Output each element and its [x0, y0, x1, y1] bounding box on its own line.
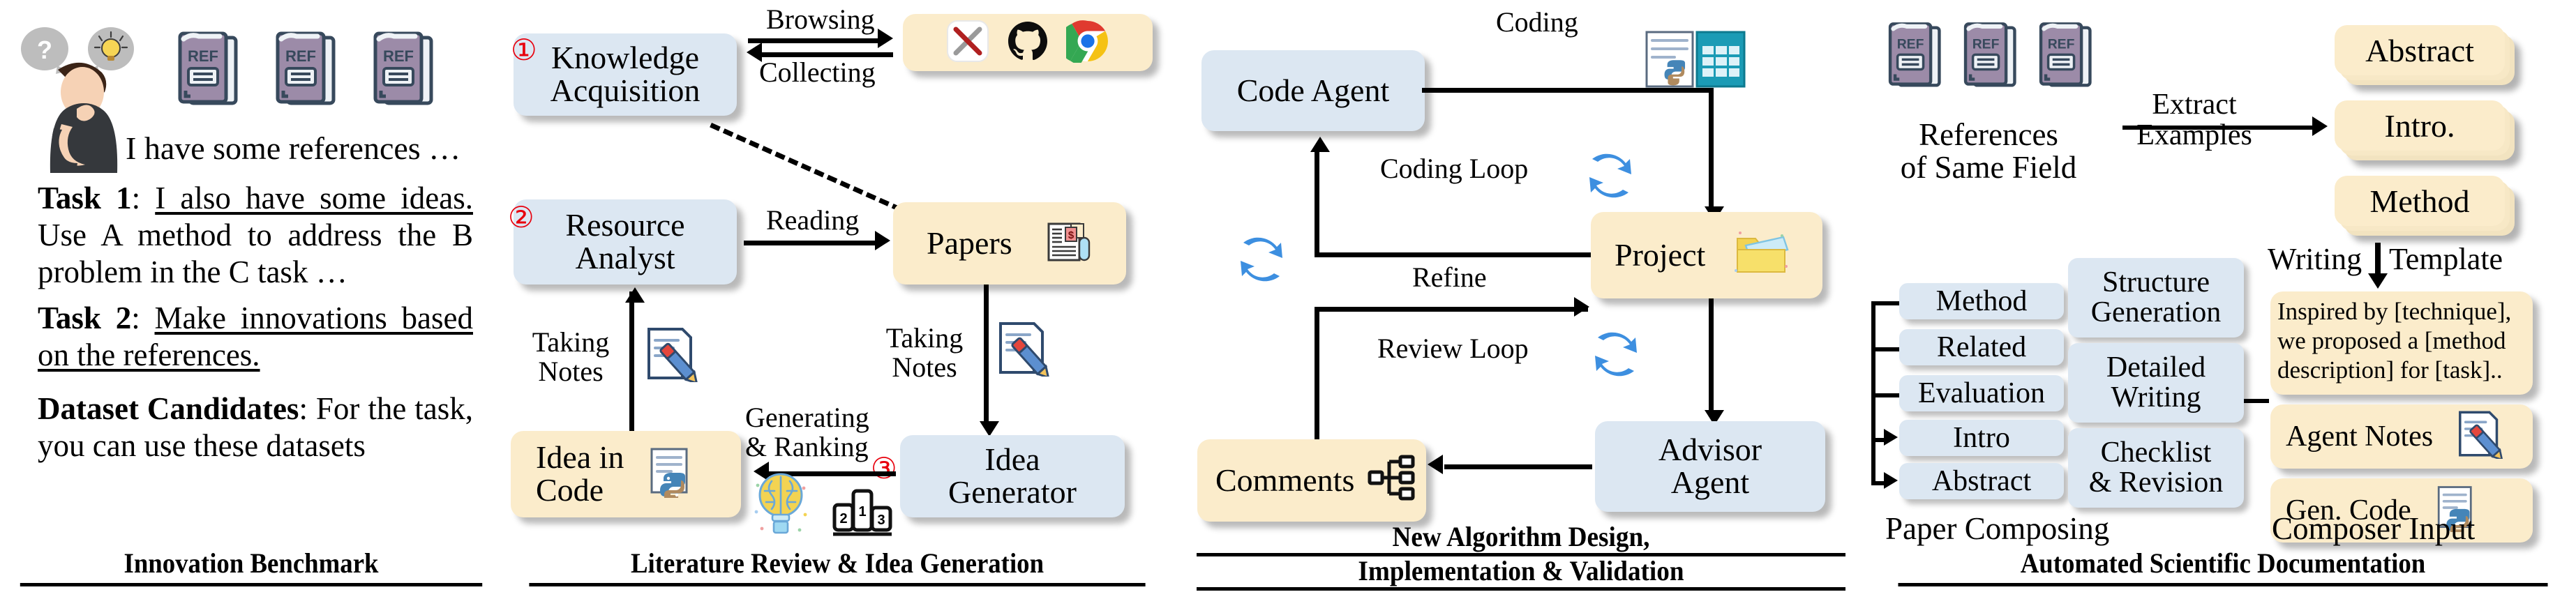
stage-detailed-writing-l1: Detailed [2106, 351, 2206, 384]
loop-icon [1582, 148, 1638, 207]
section-tree-arrow-intro [1884, 429, 1898, 446]
edge-label-coding: Coding [1496, 8, 1578, 36]
section-tree-tick [1871, 393, 1899, 397]
stage-detailed-writing[interactable]: Detailed Writing [2068, 343, 2244, 423]
section-tree-arrow-abstract [1884, 472, 1898, 489]
section-item-intro-label: Intro [1953, 423, 2010, 453]
panel-scientific-documentation: REF REF REF Re [1870, 0, 2576, 599]
svg-text:REF: REF [188, 47, 218, 65]
task-2-sep: : [131, 301, 154, 335]
section-item-abstract[interactable]: Abstract [1899, 463, 2064, 499]
svg-text:REF: REF [1972, 37, 2000, 52]
panel-3-caption-line1: New Algorithm Design, [1197, 522, 1845, 556]
extracted-abstract-card[interactable]: Abstract [2335, 25, 2505, 75]
stage-checklist-revision-l2: & Revision [2089, 467, 2224, 499]
svg-text:?: ? [37, 36, 52, 64]
node-idea-in-code-line1: Idea in [536, 439, 624, 475]
task-1-underlined: I also have some ideas. [155, 181, 473, 215]
node-idea-in-code[interactable]: Idea in Code [511, 431, 741, 517]
node-comments-label: Comments [1215, 464, 1354, 497]
edge-label-generating-ranking-l2: & Ranking [745, 431, 869, 462]
section-item-related-label: Related [1937, 333, 2026, 363]
edge-label-collecting: Collecting [759, 59, 876, 86]
svg-text:2: 2 [839, 511, 847, 526]
section-item-evaluation[interactable]: Evaluation [1899, 375, 2064, 411]
node-advisor-agent[interactable]: Advisor Agent [1595, 421, 1825, 512]
ref-book-icon: REF [174, 29, 244, 112]
node-idea-generator-line2: Generator [948, 474, 1077, 510]
stage-checklist-revision[interactable]: Checklist & Revision [2068, 428, 2244, 508]
edge-label-taking-notes-left-l1: Taking [532, 326, 610, 358]
task-1-block: Task 1: I also have some ideas. Use A me… [38, 180, 473, 291]
dataset-candidates-block: Dataset Candidates: For the task, you ca… [38, 391, 473, 464]
task-2-block: Task 2: Make innovations based on the re… [38, 300, 473, 374]
edge-browsing-line [748, 38, 879, 43]
node-idea-generator[interactable]: Idea Generator [900, 435, 1125, 517]
panel-innovation-benchmark: ? [0, 0, 502, 599]
edge-writing-template-line [2375, 243, 2381, 278]
edge-taking-notes-left-line [629, 291, 634, 434]
edge-refine-hline [1315, 307, 1588, 312]
edge-taking-notes-right-arrow [980, 421, 999, 437]
python-table-icon [1644, 29, 1747, 94]
edge-writing-template-arrow [2368, 273, 2388, 289]
edge-label-coding-loop: Coding Loop [1380, 155, 1528, 183]
edge-label-extract-l1: Extract [2152, 89, 2236, 121]
memo-pencil-icon [642, 325, 699, 386]
svg-text:1: 1 [858, 504, 866, 520]
ref-book-icon: REF [2036, 18, 2097, 95]
section-tree-tick [1871, 301, 1899, 305]
edge-label-taking-notes-left: Taking Notes [522, 328, 620, 386]
extracted-method-card[interactable]: Method [2335, 176, 2505, 226]
edge-label-generating-ranking-l1: Generating [745, 402, 869, 433]
node-resource-analyst-line1: Resource [565, 207, 684, 243]
references-label: References of Same Field [1877, 119, 2100, 185]
node-advisor-agent-line1: Advisor [1658, 432, 1762, 467]
panel-3-caption: New Algorithm Design, Implementation & V… [1172, 522, 1870, 591]
edge-reading-arrow [875, 231, 890, 250]
edge-browsing-arrow [878, 29, 893, 48]
node-knowledge-acquisition-line2: Acquisition [551, 73, 701, 108]
stage-structure-generation-l2: Generation [2091, 296, 2222, 328]
stage-structure-generation-l1: Structure [2102, 266, 2210, 298]
node-comments[interactable]: Comments [1197, 439, 1426, 522]
section-item-evaluation-label: Evaluation [1918, 379, 2045, 409]
memo-pencil-icon [2454, 409, 2504, 465]
python-file-icon [645, 445, 698, 504]
ref-book-icon: REF [272, 29, 342, 112]
ref-book-icon: REF [370, 29, 440, 112]
edge-label-generating-ranking: Generating & Ranking [745, 403, 906, 462]
subcaption-composer-input: Composer Input [2272, 513, 2475, 545]
section-item-related[interactable]: Related [1899, 329, 2064, 365]
svg-text:3: 3 [877, 513, 885, 528]
section-item-abstract-label: Abstract [1932, 467, 2031, 496]
section-item-intro[interactable]: Intro [1899, 420, 2064, 456]
node-code-agent-label: Code Agent [1237, 75, 1389, 107]
label-writing: Writing [2268, 244, 2362, 275]
section-item-method[interactable]: Method [1899, 283, 2064, 319]
edge-label-review-loop: Review Loop [1377, 335, 1529, 363]
template-text-box[interactable]: Inspired by [technique], we proposed a [… [2270, 291, 2533, 395]
memo-pencil-icon [994, 319, 1051, 380]
chrome-icon [1066, 20, 1109, 66]
speech-text: I have some references … [126, 130, 460, 167]
edge-taking-notes-right-line [984, 285, 989, 424]
node-knowledge-acquisition-line1: Knowledge [551, 40, 699, 75]
section-item-method-label: Method [1936, 287, 2028, 317]
svg-text:REF: REF [285, 47, 316, 65]
node-advisor-agent-line2: Agent [1671, 464, 1749, 500]
svg-text:REF: REF [1897, 37, 1924, 52]
node-idea-in-code-line2: Code [536, 472, 604, 508]
stage-detailed-writing-l2: Writing [2111, 381, 2201, 414]
edge-reading-line [744, 241, 876, 245]
sitemap-icon [1367, 454, 1417, 508]
arxiv-icon [946, 20, 989, 66]
task-1-label: Task 1 [38, 181, 132, 215]
node-resource-analyst-line2: Analyst [575, 240, 675, 275]
node-idea-generator-line1: Idea [984, 441, 1040, 477]
edge-refine-arrow [1574, 297, 1589, 317]
extracted-intro-card[interactable]: Intro. [2335, 100, 2505, 151]
edge-label-refine: Refine [1412, 264, 1487, 291]
edge-refine-vline [1315, 307, 1319, 462]
node-papers[interactable]: Papers $ [893, 202, 1126, 285]
dataset-candidates-sep: : [299, 391, 315, 426]
agent-notes-box[interactable]: Agent Notes [2270, 404, 2533, 469]
edge-advisor-to-comments-line [1444, 464, 1592, 469]
ref-book-icon: REF [1885, 18, 1947, 95]
panel-3-caption-line2: Implementation & Validation [1197, 556, 1845, 591]
extracted-abstract-label: Abstract [2365, 32, 2474, 69]
node-code-agent[interactable]: Code Agent [1201, 50, 1425, 131]
svg-text:REF: REF [383, 47, 414, 65]
edge-label-taking-notes-right: Taking Notes [875, 324, 974, 382]
task-2-label: Task 2 [38, 301, 131, 335]
section-tree-spine [1871, 301, 1875, 483]
brain-bulb-icon [751, 469, 811, 539]
step-number-1: ① [511, 36, 537, 66]
section-tree-tick [1871, 347, 1899, 351]
edge-extract-arrow [2312, 116, 2328, 136]
edge-label-taking-notes-right-l1: Taking [886, 322, 964, 354]
task-1-sep: : [132, 181, 156, 215]
references-label-line1: References [1919, 117, 2058, 152]
github-icon [1006, 20, 1049, 66]
edge-extract-line [2122, 126, 2315, 130]
podium-icon: 2 1 3 [830, 483, 894, 542]
agent-notes-label: Agent Notes [2286, 422, 2433, 452]
template-text: Inspired by [technique], we proposed a [… [2277, 297, 2526, 385]
edge-label-extract-examples: Extract Examples [2114, 89, 2275, 151]
label-template: Template [2389, 244, 2503, 275]
node-resource-analyst[interactable]: Resource Analyst [514, 199, 737, 285]
folder-icon [1733, 226, 1789, 285]
ref-book-icon: REF [1961, 18, 2022, 95]
node-browsers[interactable] [903, 14, 1153, 71]
panel-2-caption: Literature Review & Idea Generation [529, 547, 1145, 586]
edge-label-browsing: Browsing [766, 6, 875, 33]
thinking-person-icon: ? [20, 20, 138, 173]
edge-advisor-to-comments-arrow [1428, 455, 1443, 474]
step-number-2: ② [508, 204, 534, 233]
dataset-candidates-label: Dataset Candidates [38, 391, 299, 426]
svg-text:REF: REF [2048, 37, 2075, 52]
node-papers-label: Papers [927, 227, 1012, 260]
edge-label-reading: Reading [766, 206, 859, 234]
panel-algorithm-design: Code Agent Coding Coding Loop [1172, 0, 1870, 599]
extracted-method-label: Method [2369, 183, 2469, 220]
edge-review-loop-vline [1709, 298, 1714, 413]
edge-coding-vline [1709, 88, 1714, 209]
edge-label-taking-notes-right-l2: Notes [892, 351, 957, 383]
panel-1-caption: Innovation Benchmark [20, 547, 482, 586]
stage-checklist-revision-l1: Checklist [2101, 437, 2212, 469]
edge-coding-loop-hline [1315, 252, 1594, 257]
stage-structure-generation[interactable]: Structure Generation [2068, 258, 2244, 338]
edge-label-taking-notes-left-l2: Notes [538, 356, 603, 387]
references-label-line2: of Same Field [1901, 150, 2076, 185]
node-project[interactable]: Project [1591, 212, 1822, 298]
edge-taking-notes-left-arrow [625, 287, 645, 303]
loop-icon [1588, 326, 1644, 386]
panel-4-caption: Automated Scientific Documentation [1898, 547, 2547, 586]
edge-label-extract-l2: Examples [2136, 119, 2252, 151]
svg-text:$: $ [1068, 229, 1074, 241]
panel-literature-review: Knowledge Acquisition ① [502, 0, 1172, 599]
newspaper-icon: $ [1043, 215, 1093, 272]
node-project-label: Project [1615, 239, 1705, 272]
node-knowledge-acquisition[interactable]: Knowledge Acquisition [514, 33, 737, 116]
extracted-intro-label: Intro. [2385, 107, 2455, 144]
subcaption-paper-composing: Paper Composing [1885, 513, 2109, 545]
task-1-rest: Use A method to address the B problem in… [38, 218, 473, 289]
loop-icon [1234, 232, 1289, 291]
edge-coding-loop-vline [1315, 151, 1319, 257]
edge-coding-loop-arrow [1310, 137, 1330, 152]
